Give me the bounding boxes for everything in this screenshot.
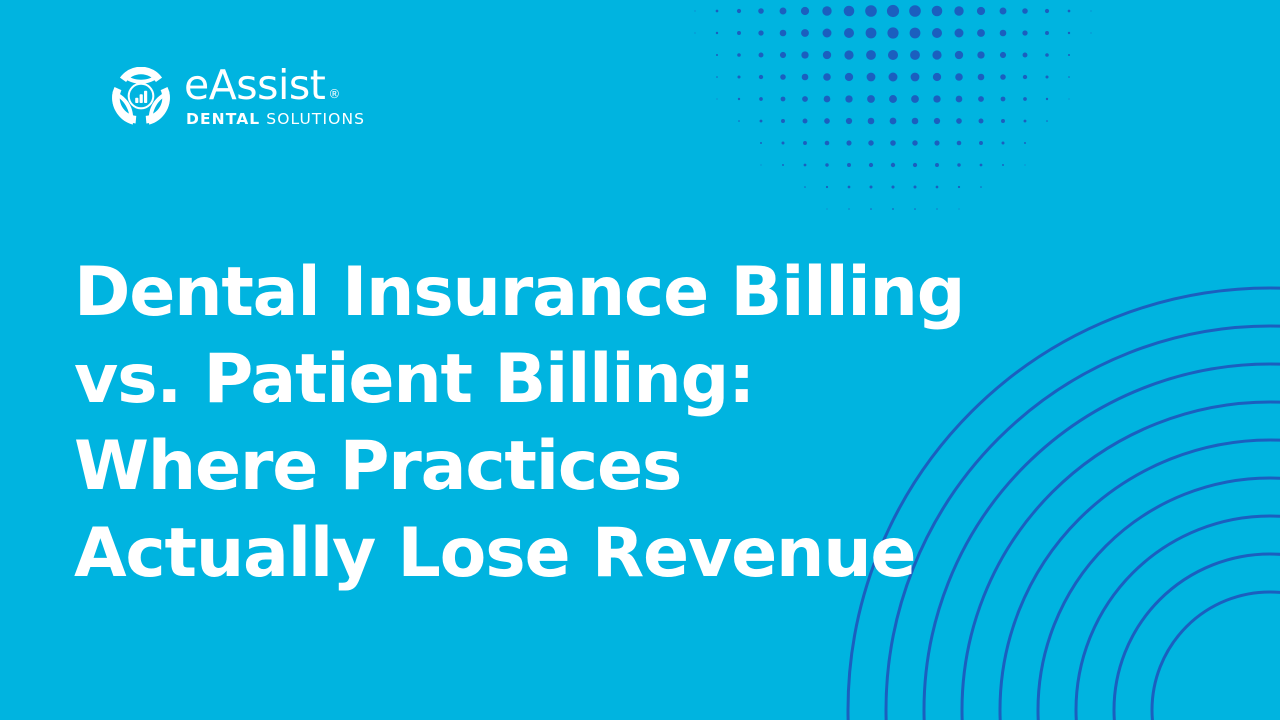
logo-name: eAssist <box>184 66 325 105</box>
headline-line-4: Actually Lose Revenue <box>74 510 1074 597</box>
logo-lockup[interactable]: eAssist ® DENTAL SOLUTIONS <box>112 64 365 128</box>
logo-tagline-primary: DENTAL <box>186 110 260 128</box>
logo-tagline-row: DENTAL SOLUTIONS <box>186 110 365 128</box>
logo-name-row: eAssist ® <box>184 66 365 105</box>
halftone-dot-pattern <box>640 0 1200 250</box>
eassist-trefoil-bar-chart-logo-icon <box>112 67 170 125</box>
headline-line-1: Dental Insurance Billing <box>74 249 1074 336</box>
registered-trademark-icon: ® <box>328 88 340 100</box>
headline-line-3: Where Practices <box>74 423 1074 510</box>
title-slide: eAssist ® DENTAL SOLUTIONS Dental Insura… <box>0 0 1280 720</box>
headline-line-2: vs. Patient Billing: <box>74 336 1074 423</box>
logo-tagline-secondary: SOLUTIONS <box>266 110 365 128</box>
page-title: Dental Insurance Billing vs. Patient Bil… <box>74 249 1074 597</box>
logo-wordmark: eAssist ® DENTAL SOLUTIONS <box>184 64 365 128</box>
